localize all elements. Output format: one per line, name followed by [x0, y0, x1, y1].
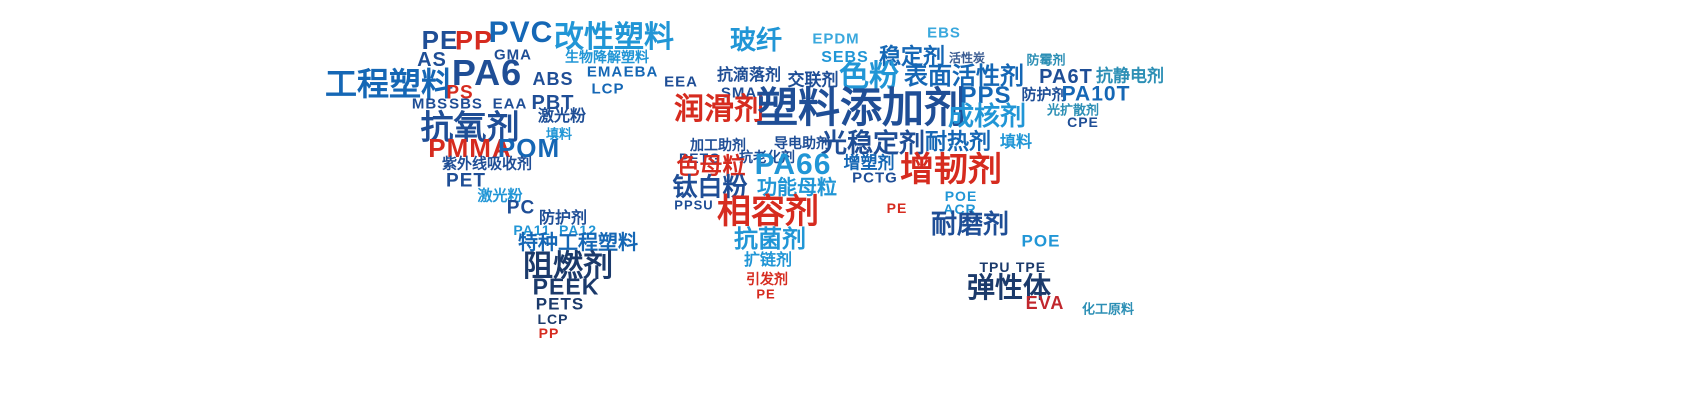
word-cloud-canvas: PEPPPVCGMA改性塑料玻纤EPDMEBSAS生物降解塑料SEBS稳定剂活性… [0, 0, 1707, 400]
cloud-word[interactable]: PETS [536, 296, 584, 313]
cloud-word[interactable]: EBS [927, 26, 961, 41]
cloud-word[interactable]: PPSU [674, 199, 713, 212]
cloud-word[interactable]: 紫外线吸收剂 [442, 157, 532, 172]
cloud-word[interactable]: EBA [624, 65, 659, 80]
cloud-word[interactable]: EMA [587, 65, 623, 80]
cloud-word[interactable]: PCTG [852, 171, 898, 186]
cloud-word[interactable]: 塑料添加剂 [756, 87, 966, 129]
cloud-word[interactable]: 成核剂 [948, 103, 1026, 129]
cloud-word[interactable]: POE [1022, 233, 1061, 250]
cloud-word[interactable]: 扩链剂 [744, 253, 792, 269]
cloud-word[interactable]: 相容剂 [717, 195, 819, 229]
cloud-word[interactable]: PC [507, 199, 535, 218]
cloud-word[interactable]: 生物降解塑料 [565, 50, 649, 64]
cloud-word[interactable]: 引发剂 [746, 272, 788, 286]
cloud-word[interactable]: PE [887, 201, 908, 215]
cloud-word[interactable]: 润滑剂 [674, 95, 764, 125]
cloud-word[interactable]: PP [455, 28, 493, 55]
cloud-word[interactable]: PA10T [1062, 84, 1131, 105]
cloud-word[interactable]: EVA [1026, 294, 1065, 312]
cloud-word[interactable]: 填料 [1000, 135, 1032, 151]
cloud-word[interactable]: EPDM [812, 32, 859, 47]
cloud-word[interactable]: 化工原料 [1082, 303, 1134, 316]
cloud-word[interactable]: PVC [489, 18, 554, 48]
cloud-word[interactable]: PP [539, 326, 560, 340]
cloud-word[interactable]: 抗滴落剂 [717, 68, 781, 84]
cloud-word[interactable]: LCP [592, 82, 625, 97]
cloud-word[interactable]: 耐磨剂 [931, 211, 1009, 237]
cloud-word[interactable]: 增韧剂 [900, 153, 1002, 187]
cloud-word[interactable]: EEA [664, 75, 698, 90]
cloud-word[interactable]: ABS [532, 70, 573, 88]
cloud-word[interactable]: 防霉剂 [1026, 54, 1065, 67]
cloud-word[interactable]: 激光粉 [538, 109, 586, 125]
cloud-word[interactable]: PE [756, 288, 775, 301]
cloud-word[interactable]: CPE [1067, 115, 1099, 129]
cloud-word[interactable]: LCP [538, 312, 569, 326]
cloud-word[interactable]: 玻纤 [730, 27, 782, 53]
cloud-word[interactable]: 防护剂 [1021, 88, 1066, 103]
cloud-word[interactable]: 抗菌剂 [734, 228, 806, 252]
cloud-word[interactable]: PA66 [755, 150, 832, 180]
cloud-word[interactable]: 耐热剂 [925, 131, 991, 153]
